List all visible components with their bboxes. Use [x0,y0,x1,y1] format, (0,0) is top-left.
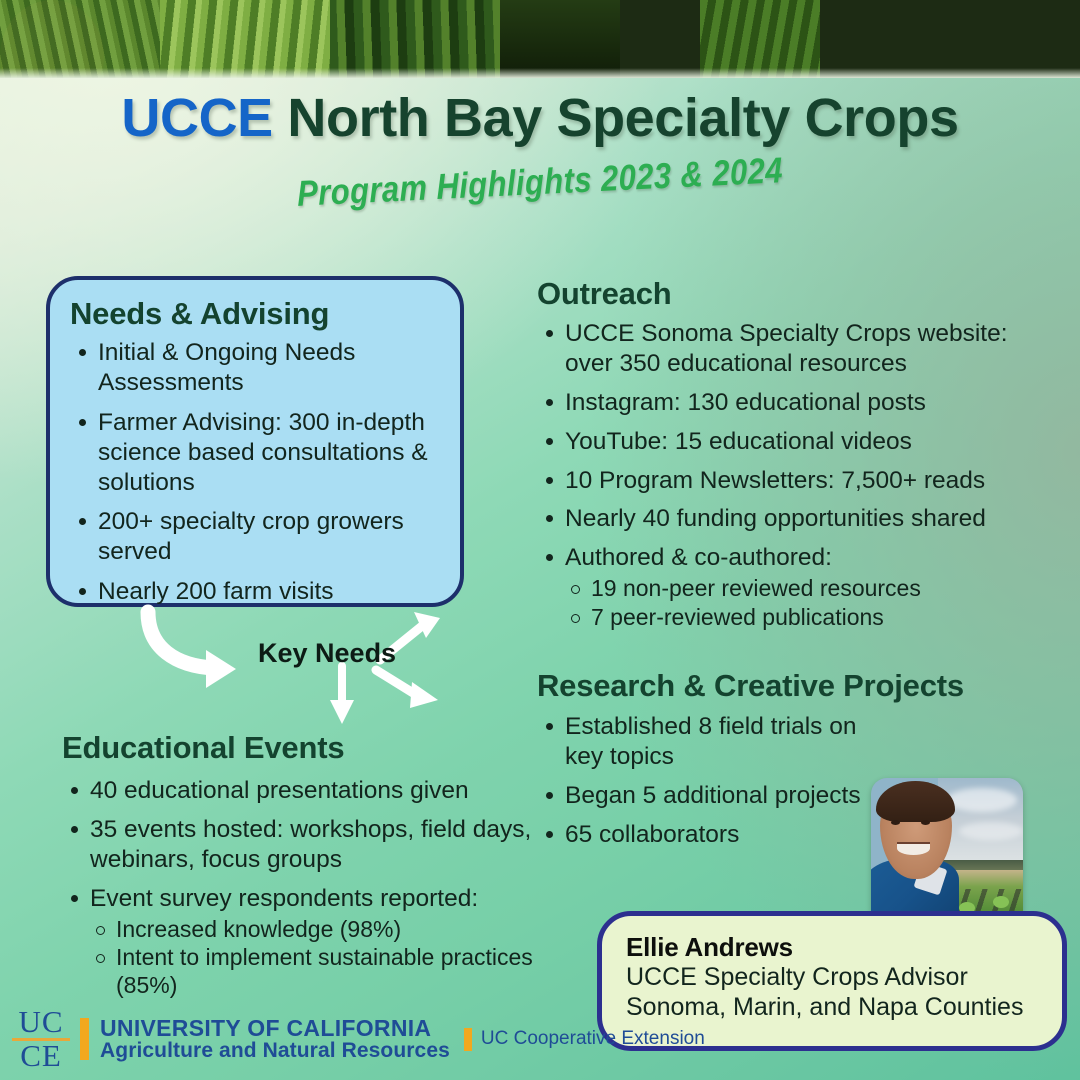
page-title-rest: North Bay Specialty Crops [273,88,959,148]
list-item-label: Authored & co-authored: [565,544,832,571]
university-of-california-label: UNIVERSITY OF CALIFORNIA [100,1016,450,1040]
uc-cooperative-extension-label: UC Cooperative Extension [481,1028,705,1050]
banner-greens-right [700,0,820,78]
list-item: Established 8 field trials on key topics [537,712,867,772]
key-needs-label: Key Needs [258,638,396,669]
portrait-cloud-1 [947,788,1017,812]
educational-events-section: Educational Events 40 educational presen… [62,730,562,1008]
needs-advising-list: Initial & Ongoing Needs Assessments Farm… [70,338,442,607]
portrait-eye-left [891,820,900,825]
list-item: Authored & co-authored: 19 non-peer revi… [537,543,1057,631]
list-item: 35 events hosted: workshops, field days,… [62,815,562,875]
list-item: UCCE Sonoma Specialty Crops website: ove… [537,319,1057,379]
sub-list-item: Intent to implement sustainable practice… [90,944,562,999]
list-item: Event survey respondents reported: Incre… [62,884,562,1000]
arrow-curved-head-icon [206,650,236,688]
outreach-heading: Outreach [537,276,1057,312]
page-subtitle: Program Highlights 2023 & 2024 [75,139,1004,226]
advisor-title: UCCE Specialty Crops Advisor [626,963,1042,993]
title-block: UCCE North Bay Specialty Crops Program H… [0,90,1080,203]
banner-bottom-fade [0,68,1080,78]
portrait-cloud-2 [959,822,1023,840]
list-item: 10 Program Newsletters: 7,500+ reads [537,466,1057,496]
agriculture-natural-resources-label: Agriculture and Natural Resources [100,1040,450,1062]
list-item-label: Event survey respondents reported: [90,885,478,912]
poster-canvas: UCCE North Bay Specialty Crops Program H… [0,0,1080,1080]
list-item: Initial & Ongoing Needs Assessments [70,338,442,398]
list-item: 65 collaborators [537,820,867,850]
produce-banner-image [0,0,1080,78]
uc-anr-wordmark: UNIVERSITY OF CALIFORNIA Agriculture and… [100,1016,450,1063]
banner-lettuce [160,0,350,78]
gold-divider-bar [80,1018,89,1060]
ucce-monogram-line-1: UC [8,1008,74,1037]
arrow-curved-from-needs-icon [148,612,214,668]
uc-anr-logo: UC CE UNIVERSITY OF CALIFORNIA Agricultu… [8,1008,705,1070]
educational-events-heading: Educational Events [62,730,562,766]
arrow-down-head-icon [330,700,354,724]
outreach-sublist: 19 non-peer reviewed resources 7 peer-re… [565,575,1057,631]
list-item: YouTube: 15 educational videos [537,427,1057,457]
list-item: Began 5 additional projects [537,781,867,811]
needs-and-advising-card: Needs & Advising Initial & Ongoing Needs… [46,276,464,607]
list-item: Nearly 40 funding opportunities shared [537,504,1057,534]
portrait-leaf [993,896,1009,908]
list-item: Farmer Advising: 300 in-depth science ba… [70,408,442,498]
educational-events-sublist: Increased knowledge (98%) Intent to impl… [90,916,562,1000]
list-item: 200+ specialty crop growers served [70,507,442,567]
list-item: 40 educational presentations given [62,776,562,806]
arrow-down-right-head-icon [410,682,438,708]
ucce-monogram-line-2: CE [8,1042,74,1071]
list-item: Nearly 200 farm visits [70,577,442,607]
outreach-section: Outreach UCCE Sonoma Specialty Crops web… [537,276,1057,640]
advisor-name: Ellie Andrews [626,932,1042,963]
sub-list-item: 7 peer-reviewed publications [565,604,1057,632]
sub-list-item: Increased knowledge (98%) [90,916,562,944]
key-needs-cluster: Key Needs [140,604,490,729]
educational-events-list: 40 educational presentations given 35 ev… [62,776,562,999]
research-list: Established 8 field trials on key topics… [537,712,867,850]
ucce-monogram-icon: UC CE [8,1008,74,1070]
page-title: UCCE North Bay Specialty Crops [0,90,1080,147]
research-heading: Research & Creative Projects [537,668,1007,704]
list-item: Instagram: 130 educational posts [537,388,1057,418]
sub-list-item: 19 non-peer reviewed resources [565,575,1057,603]
gold-divider-bar-small [464,1028,472,1051]
outreach-list: UCCE Sonoma Specialty Crops website: ove… [537,319,1057,631]
banner-dark-foliage [500,0,620,78]
needs-advising-heading: Needs & Advising [70,296,442,332]
page-title-brand: UCCE [121,88,272,148]
